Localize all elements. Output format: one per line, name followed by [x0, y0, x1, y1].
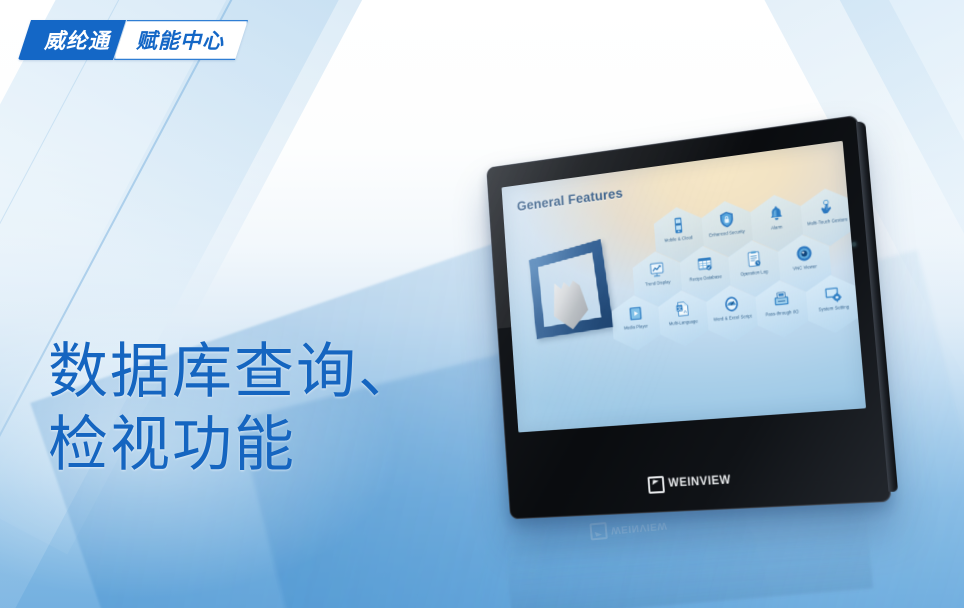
media-play-icon — [626, 303, 643, 323]
feature-hex-label: Multi-Touch Gesture — [808, 218, 849, 227]
bell-icon — [766, 203, 785, 224]
banner-stage: 威纶通 赋能中心 数据库查询、 检视功能 WEINVIEW General Fe… — [0, 0, 964, 608]
svg-text:A: A — [683, 309, 688, 316]
touch-hand-icon — [817, 197, 836, 219]
feature-hex-label: Pass-through I/O — [765, 310, 799, 318]
mobile-cloud-icon — [669, 215, 687, 236]
passthrough-io-icon — [772, 289, 791, 310]
brand-text-reflection: WEINVIEW — [611, 520, 668, 536]
feature-hex-label: Mobile & Cloud — [665, 236, 694, 244]
hmi-device: General Features Mobile & CloudEnhanced … — [486, 115, 891, 519]
feature-hex-multi-touch-gesture[interactable]: Multi-Touch Gesture — [799, 185, 856, 249]
weinview-cursor-icon-reflection — [589, 522, 607, 540]
headline-line-2: 检视功能 — [48, 408, 420, 481]
svg-text:文: 文 — [676, 305, 682, 313]
screen-title: General Features — [516, 185, 623, 214]
feature-hex-label: VNC Viewer — [793, 265, 818, 272]
language-icon: 文A — [674, 299, 692, 320]
feature-hex-label: Multi-Language — [669, 320, 698, 327]
feature-hex-vnc-viewer[interactable]: VNC Viewer — [777, 232, 833, 295]
brand-badge: 威纶通 赋能中心 — [18, 20, 248, 60]
page-title: 数据库查询、 检视功能 — [48, 262, 420, 555]
feature-hex-word-excel-script[interactable]: Word & Excel Script — [705, 283, 759, 344]
feature-hex-label: Alarm — [771, 226, 783, 232]
feature-hex-label: System Setting — [818, 306, 849, 314]
feature-hex-label: Enhanced Security — [709, 230, 745, 239]
feature-hex-pass-through-i-o[interactable]: Pass-through I/O — [754, 278, 809, 340]
feature-hex-grid: Mobile & CloudEnhanced SecurityAlarmMult… — [604, 186, 866, 426]
system-gear-icon — [822, 283, 841, 304]
feature-hex-label: Trend Display — [645, 281, 671, 288]
vnc-eye-icon — [794, 243, 813, 264]
trend-chart-icon — [648, 259, 666, 279]
clipboard-log-icon — [744, 249, 762, 270]
badge-primary-label: 威纶通 — [18, 20, 126, 60]
logo-frame-icon — [529, 239, 614, 339]
feature-hex-label: Media Player — [624, 325, 648, 332]
headline-line-1: 数据库查询、 — [48, 338, 420, 405]
feature-hex-system-setting[interactable]: System Setting — [805, 272, 862, 335]
badge-secondary-label: 赋能中心 — [114, 20, 248, 60]
